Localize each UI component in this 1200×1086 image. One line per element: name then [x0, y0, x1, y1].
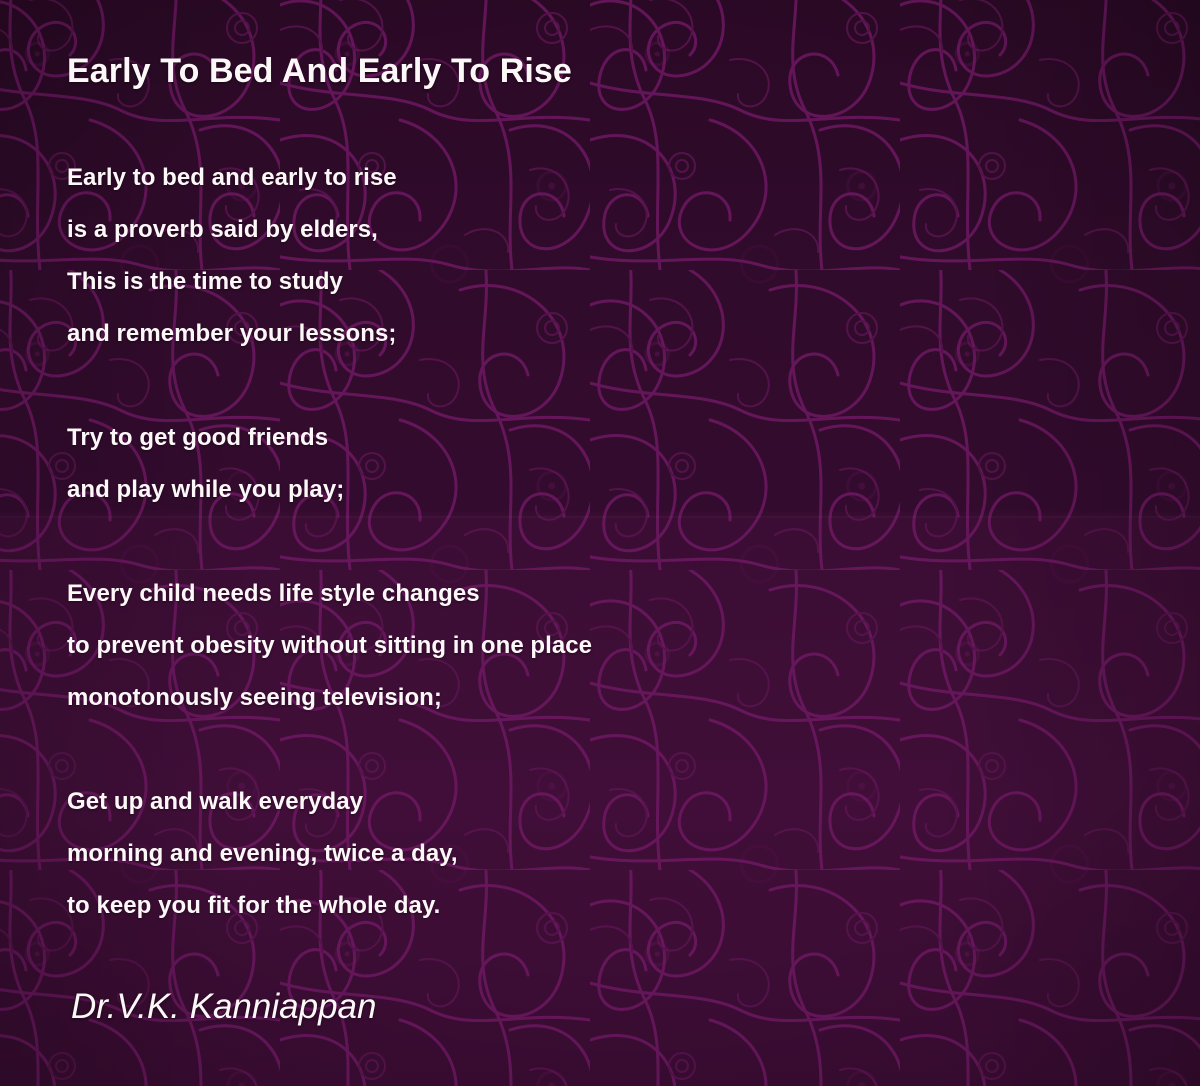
poem-line: Try to get good friends [67, 412, 592, 464]
page-title: Early To Bed And Early To Rise [67, 50, 572, 92]
poem-stanza: Early to bed and early to rise is a prov… [67, 152, 592, 360]
poem-image-canvas: Early To Bed And Early To Rise Early to … [0, 0, 1200, 1086]
poem-stanza: Try to get good friends and play while y… [67, 412, 592, 516]
poem-line: Every child needs life style changes [67, 568, 592, 620]
poem-body: Early to bed and early to rise is a prov… [67, 152, 592, 932]
poem-line: and remember your lessons; [67, 308, 592, 360]
poem-line: monotonously seeing television; [67, 672, 592, 724]
poem-line: is a proverb said by elders, [67, 204, 592, 256]
poem-content: Early To Bed And Early To Rise Early to … [67, 0, 1147, 1086]
poem-line: to keep you fit for the whole day. [67, 880, 592, 932]
poem-line: Get up and walk everyday [67, 776, 592, 828]
poem-line: and play while you play; [67, 464, 592, 516]
poem-stanza: Get up and walk everyday morning and eve… [67, 776, 592, 932]
poem-author-signature: Dr.V.K. Kanniappan [71, 984, 376, 1030]
poem-stanza: Every child needs life style changes to … [67, 568, 592, 724]
poem-line: morning and evening, twice a day, [67, 828, 592, 880]
poem-line: Early to bed and early to rise [67, 152, 592, 204]
poem-line: to prevent obesity without sitting in on… [67, 620, 592, 672]
poem-line: This is the time to study [67, 256, 592, 308]
